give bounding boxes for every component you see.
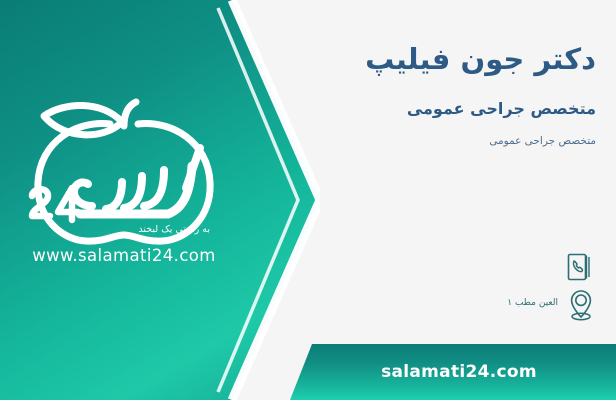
logo-website-url: www.salamati24.com [14,246,234,265]
business-card: به راحتی یک لبخند www.salamati24.com دکت… [0,0,616,400]
salamati24-logo: به راحتی یک لبخند www.salamati24.com [14,96,234,278]
doctor-name: دکتر جون فیلیپ [176,42,596,76]
location-contact-row[interactable]: العين مطب ۱ [507,288,596,322]
phonebook-icon[interactable] [566,252,592,282]
doctor-specialty-sub: متخصص جراحی عمومی [176,135,596,147]
footer-website[interactable]: salamati24.com [290,344,616,400]
location-label: العين مطب ۱ [507,298,558,312]
doctor-specialty-main: متخصص جراحی عمومی [176,99,596,118]
phone-contact-row[interactable] [566,252,592,286]
logo-tagline: به راحتی یک لبخند [138,224,210,235]
map-pin-icon[interactable] [566,288,596,322]
